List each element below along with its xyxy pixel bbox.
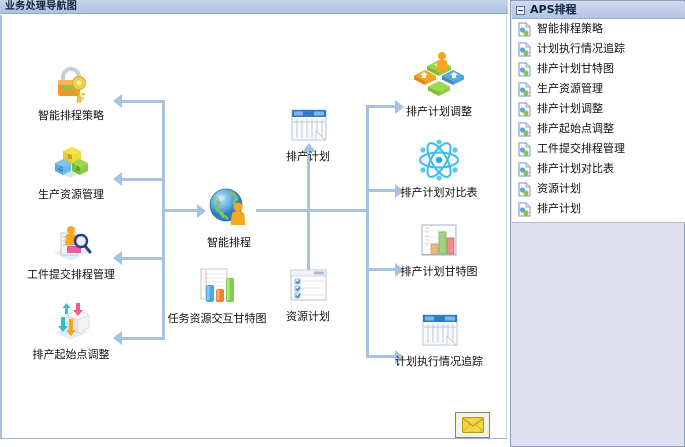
- document-page-icon: [518, 62, 531, 77]
- document-page-icon: [518, 202, 531, 217]
- checklist-window-icon: [286, 265, 330, 307]
- document-page-icon: [518, 122, 531, 137]
- list-item[interactable]: 排产计划: [512, 199, 685, 219]
- node-resource-plan[interactable]: 资源计划: [248, 265, 368, 323]
- document-page-icon: [518, 42, 531, 57]
- list-item[interactable]: 排产计划调整: [512, 99, 685, 119]
- list-item-label: 工件提交排程管理: [537, 142, 625, 156]
- list-item[interactable]: 排产起始点调整: [512, 119, 685, 139]
- list-item-label: 排产计划对比表: [537, 162, 614, 176]
- node-label: 排产起始点调整: [11, 348, 131, 361]
- cube-arrows-icon: [48, 301, 94, 345]
- list-item-label: 计划执行情况追踪: [537, 42, 625, 56]
- node-label: 智能排程: [169, 236, 289, 249]
- lock-key-icon: [48, 62, 94, 106]
- minus-box-icon[interactable]: [516, 6, 525, 15]
- list-item-label: 生产资源管理: [537, 82, 603, 96]
- window-titlebar: 业务处理导航图: [0, 0, 508, 14]
- node-label: 排产计划对比表: [379, 186, 499, 199]
- svg-text:C: C: [59, 167, 64, 173]
- node-label: 排产计划甘特图: [379, 265, 499, 278]
- node-plan-adjustment[interactable]: 排产计划调整: [379, 50, 499, 118]
- document-page-icon: [518, 162, 531, 177]
- grid-window-icon: [417, 310, 461, 352]
- atom-icon: [415, 137, 463, 183]
- node-intelligent-scheduling[interactable]: 智能排程: [169, 185, 289, 249]
- node-intelligent-scheduling-strategy[interactable]: 智能排程策略: [11, 62, 131, 122]
- list-item-label: 排产计划: [537, 202, 581, 216]
- column-chart-icon: [415, 222, 463, 262]
- node-label: 生产资源管理: [11, 188, 131, 201]
- connector-middle-vertical: [307, 150, 310, 280]
- window-title: 业务处理导航图: [5, 1, 77, 13]
- list-item[interactable]: 智能排程策略: [512, 19, 685, 39]
- aps-scheduling-panel: APS排程 智能排程策略 计划执行情况追踪 排产计划甘特图 生产资源管理: [510, 0, 685, 447]
- list-item[interactable]: 排产计划对比表: [512, 159, 685, 179]
- list-item-label: 排产计划甘特图: [537, 62, 614, 76]
- list-item[interactable]: 计划执行情况追踪: [512, 39, 685, 59]
- bar-chart-doc-icon: [189, 265, 245, 309]
- arrows-person-icon: [412, 50, 466, 102]
- list-item-label: 资源计划: [537, 182, 581, 196]
- person-magnifier-icon: [48, 221, 94, 265]
- node-label: 计划执行情况追踪: [379, 355, 499, 368]
- list-item-label: 排产计划调整: [537, 102, 603, 116]
- document-page-icon: [518, 82, 531, 97]
- node-label: 资源计划: [248, 310, 368, 323]
- envelope-icon: [462, 417, 484, 433]
- list-item[interactable]: 资源计划: [512, 179, 685, 199]
- node-label: 排产计划: [248, 150, 368, 163]
- node-plan-execution-tracking[interactable]: 计划执行情况追踪: [379, 310, 499, 368]
- node-label: 工件提交排程管理: [11, 268, 131, 281]
- node-workpiece-submit-scheduling[interactable]: 工件提交排程管理: [11, 221, 131, 281]
- node-production-plan[interactable]: 排产计划: [248, 105, 368, 163]
- node-label: 智能排程策略: [11, 109, 131, 122]
- document-page-icon: [518, 142, 531, 157]
- mail-button[interactable]: [455, 412, 490, 438]
- list-item[interactable]: 工件提交排程管理: [512, 139, 685, 159]
- list-item-label: 智能排程策略: [537, 22, 603, 36]
- navigation-diagram-window: 业务处理导航图: [0, 0, 508, 447]
- grid-window-icon: [286, 105, 330, 147]
- panel-item-list[interactable]: 智能排程策略 计划执行情况追踪 排产计划甘特图 生产资源管理 排产计划调整: [512, 19, 685, 223]
- node-production-resource-management[interactable]: B C A 生产资源管理: [11, 141, 131, 201]
- diagram-canvas: 智能排程策略 B C: [0, 15, 507, 439]
- document-page-icon: [518, 102, 531, 117]
- svg-text:B: B: [68, 155, 72, 161]
- panel-header[interactable]: APS排程: [512, 2, 685, 19]
- node-label: 排产计划调整: [379, 105, 499, 118]
- list-item[interactable]: 排产计划甘特图: [512, 59, 685, 79]
- globe-person-icon: [204, 185, 254, 233]
- node-plan-gantt-chart[interactable]: 排产计划甘特图: [379, 222, 499, 278]
- node-production-start-point-adjust[interactable]: 排产起始点调整: [11, 301, 131, 361]
- document-page-icon: [518, 182, 531, 197]
- document-page-icon: [518, 22, 531, 37]
- panel-title: APS排程: [530, 3, 577, 17]
- svg-text:A: A: [76, 167, 80, 173]
- list-item[interactable]: 生产资源管理: [512, 79, 685, 99]
- window-bottom-strip: [0, 439, 508, 447]
- node-plan-comparison-table[interactable]: 排产计划对比表: [379, 137, 499, 199]
- abc-blocks-icon: B C A: [48, 141, 94, 185]
- list-item-label: 排产起始点调整: [537, 122, 614, 136]
